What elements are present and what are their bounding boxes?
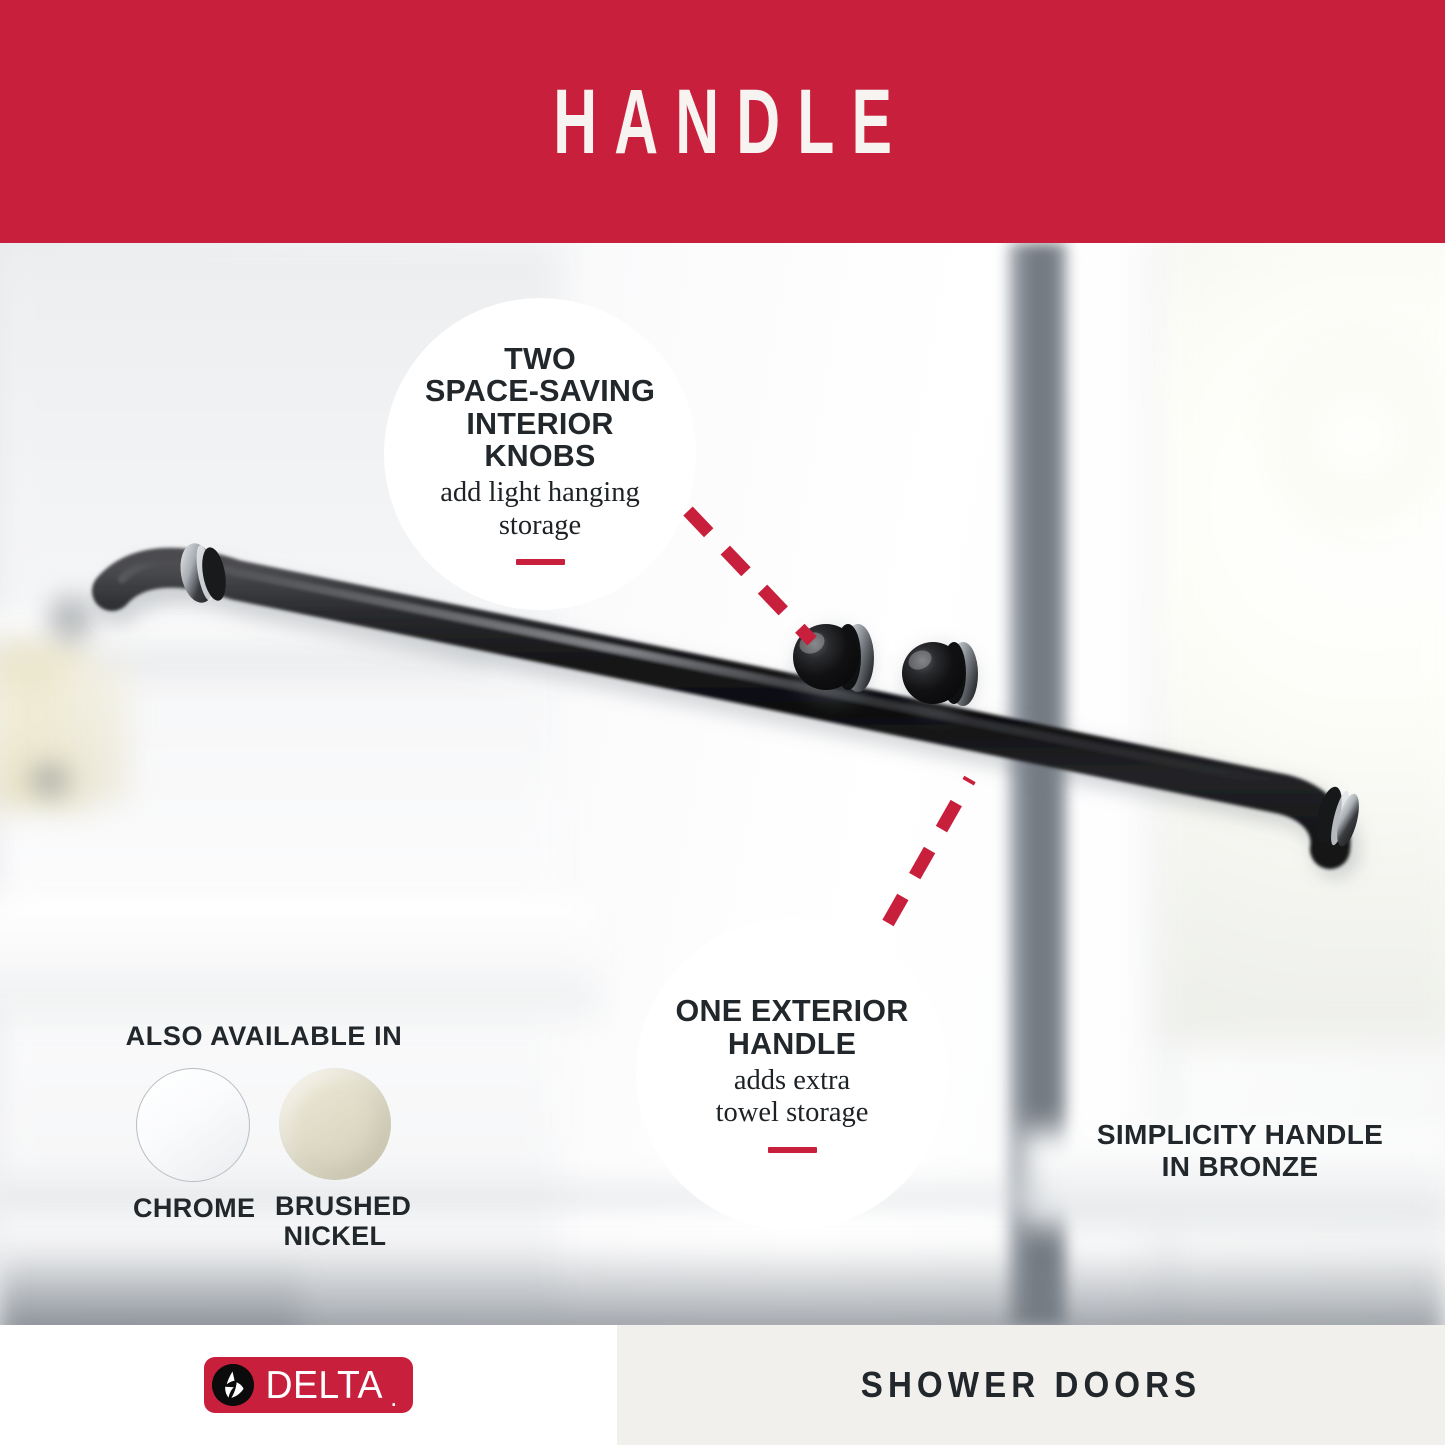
- callout-subtext: add light hanging storage: [440, 477, 639, 542]
- callout-accent-rule: [768, 1147, 817, 1153]
- finish-option-chrome[interactable]: CHROME: [133, 1068, 253, 1251]
- page-title: HANDLE: [536, 76, 909, 168]
- callout-interior-knobs[interactable]: TWO SPACE-SAVING INTERIOR KNOBS add ligh…: [384, 298, 696, 610]
- finish-options: ALSO AVAILABLE IN CHROME BRUSHED NICKEL: [104, 1021, 424, 1251]
- footer-category-label: SHOWER DOORS: [861, 1364, 1201, 1406]
- footer-brand-area: DELTA .: [0, 1325, 617, 1445]
- product-photo: TWO SPACE-SAVING INTERIOR KNOBS add ligh…: [0, 243, 1445, 1325]
- infographic-canvas: HANDLE: [0, 0, 1445, 1445]
- finish-label: BRUSHED NICKEL: [275, 1192, 395, 1251]
- brushed-nickel-swatch-icon: [279, 1068, 391, 1180]
- finish-label: CHROME: [133, 1194, 253, 1224]
- delta-triangle-icon: [212, 1364, 254, 1406]
- leader-line-handle: [888, 779, 970, 923]
- header-banner: HANDLE: [0, 0, 1445, 243]
- product-caption: SIMPLICITY HANDLE IN BRONZE: [1080, 1119, 1400, 1183]
- finish-options-title: ALSO AVAILABLE IN: [104, 1021, 424, 1052]
- handle-shadow: [118, 581, 1337, 855]
- chrome-swatch-icon: [136, 1068, 250, 1182]
- footer: DELTA . SHOWER DOORS: [0, 1325, 1445, 1445]
- delta-wordmark-period: .: [390, 1384, 397, 1410]
- callout-subtext: adds extra towel storage: [716, 1065, 869, 1130]
- callout-headline: ONE EXTERIOR HANDLE: [676, 995, 909, 1060]
- delta-wordmark: DELTA: [265, 1366, 383, 1405]
- callout-exterior-handle[interactable]: ONE EXTERIOR HANDLE adds extra towel sto…: [636, 918, 948, 1230]
- finish-option-brushed-nickel[interactable]: BRUSHED NICKEL: [275, 1068, 395, 1251]
- delta-logo[interactable]: DELTA .: [204, 1357, 414, 1413]
- finish-swatch-row: CHROME BRUSHED NICKEL: [104, 1068, 424, 1251]
- callout-accent-rule: [516, 559, 565, 565]
- interior-knob-2: [902, 642, 978, 716]
- leader-line-knobs: [688, 511, 812, 641]
- footer-category-area: SHOWER DOORS: [617, 1325, 1445, 1445]
- callout-headline: TWO SPACE-SAVING INTERIOR KNOBS: [408, 343, 672, 472]
